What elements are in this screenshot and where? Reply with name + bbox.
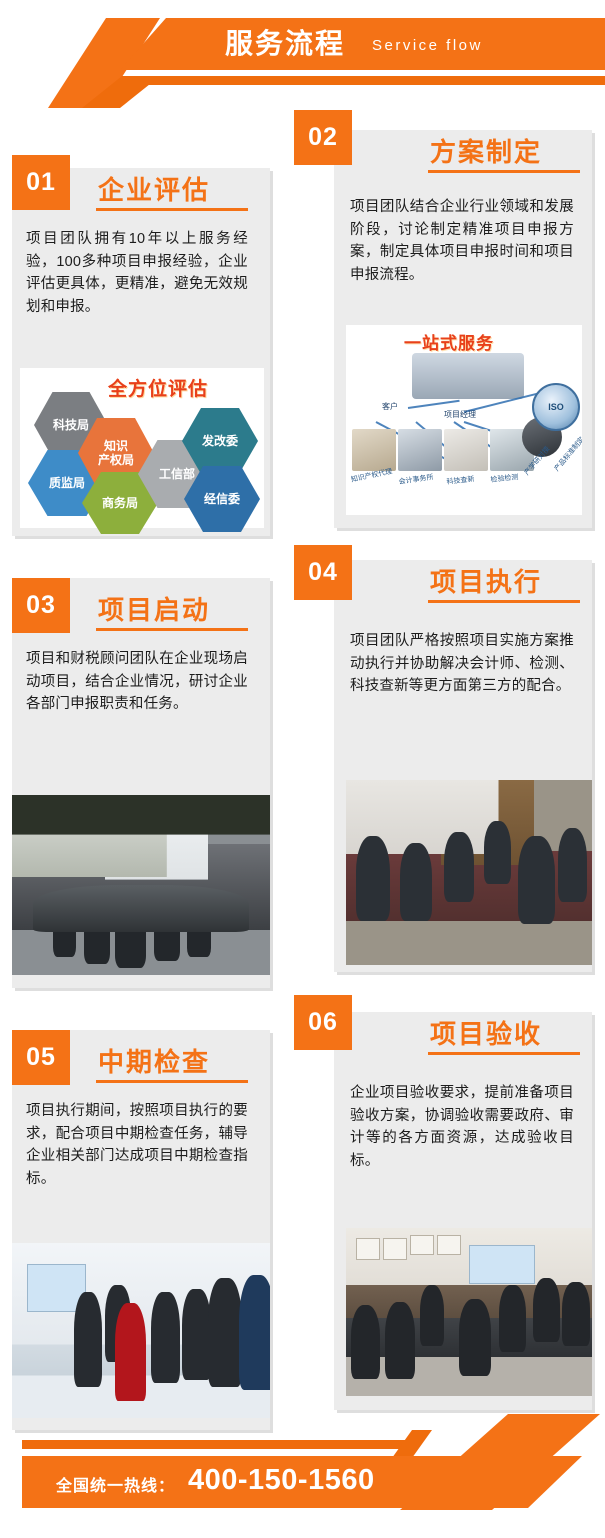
step-body-06: 企业项目验收要求，提前准备项目验收方案，协调验收需要政府、审计等的各方面资源，达… [350,1082,574,1172]
one-stop-node-manager: 项目经理 [444,409,476,420]
hotline-number[interactable]: 400-150-1560 [188,1464,375,1497]
step-title-rule-04 [428,600,580,603]
page-footer: 全国统一热线： 400-150-1560 [0,1418,605,1538]
hotline-label: 全国统一热线： [56,1472,175,1496]
one-stop-caption-search: 科技查新 [446,474,475,487]
hex-node-label: 知识 产权局 [98,439,134,467]
step-title-01: 企业评估 [98,170,210,207]
one-stop-seal-icon: ISO [532,383,580,431]
step-title-04: 项目执行 [430,562,542,599]
step-badge-03: 03 [12,578,70,633]
hex-node-label: 商务局 [102,496,138,510]
photo-acceptance-meeting [346,1228,592,1396]
step-title-rule-02 [428,170,580,173]
seal-label: ISO [548,402,564,412]
one-stop-thumb-accounting [398,429,442,471]
one-stop-title: 一站式服务 [404,329,494,354]
step-number-01: 01 [12,155,70,210]
step-title-rule-03 [96,628,248,631]
page-header: 服务流程 Service flow [0,0,605,108]
step-title-03: 项目启动 [98,590,210,627]
step-title-rule-06 [428,1052,580,1055]
one-stop-diagram: 一站式服务 客户 项目经理 ISO 知识产权代理 会计事务所 科技查新 检验检测… [346,325,582,515]
hex-diagram-title: 全方位评估 [108,374,208,401]
one-stop-node-customer: 客户 [382,401,398,412]
step-badge-05: 05 [12,1030,70,1085]
step-body-02: 项目团队结合企业行业领域和发展阶段，讨论制定精准项目申报方案，制定具体项目申报时… [350,196,574,286]
hex-diagram: 全方位评估 科技局 质监局 知识 产权局 商务局 工信部 发改委 经信委 [20,368,264,528]
one-stop-caption-testing: 检验检测 [490,472,519,485]
step-body-03: 项目和财税顾问团队在企业现场启动项目，结合企业情况，研讨企业各部门申报职责和任务… [26,648,248,716]
footer-stripe [22,1440,412,1449]
step-badge-02: 02 [294,110,352,165]
header-stripe [142,76,605,85]
hex-node-label: 发改委 [202,434,238,448]
step-number-06: 06 [294,995,352,1050]
step-title-05: 中期检查 [98,1042,210,1079]
photo-site-visit [12,1243,270,1418]
step-number-02: 02 [294,110,352,165]
photo-laptop-meeting [346,780,592,965]
flow-arrow [408,400,460,409]
step-body-04: 项目团队严格按照项目实施方案推动执行并协助解决会计师、检测、科技查新等更方面第三… [350,630,574,698]
hex-node-label: 质监局 [49,476,85,490]
step-title-rule-05 [96,1080,248,1083]
step-title-06: 项目验收 [430,1014,542,1051]
step-number-04: 04 [294,545,352,600]
header-band [120,18,605,70]
page-title: 服务流程 [225,27,345,61]
step-badge-06: 06 [294,995,352,1050]
hex-node-label: 科技局 [53,418,89,432]
step-badge-01: 01 [12,155,70,210]
step-title-rule-01 [96,208,248,211]
page-subtitle: Service flow [372,36,483,56]
one-stop-thumb-ip [352,429,396,471]
step-title-02: 方案制定 [430,132,542,169]
step-number-03: 03 [12,578,70,633]
one-stop-caption-accounting: 会计事务所 [398,472,434,487]
step-badge-04: 04 [294,545,352,600]
hex-node-label: 工信部 [159,467,195,481]
one-stop-center-photo [412,353,524,399]
hex-node-label: 经信委 [204,492,240,506]
one-stop-thumb-search [444,429,488,471]
step-number-05: 05 [12,1030,70,1085]
step-body-05: 项目执行期间，按照项目执行的要求，配合项目中期检查任务，辅导企业相关部门达成项目… [26,1100,248,1190]
photo-meeting-room [12,795,270,975]
step-body-01: 项目团队拥有10年以上服务经验，100多种项目申报经验，企业评估更具体，更精准，… [26,228,248,318]
